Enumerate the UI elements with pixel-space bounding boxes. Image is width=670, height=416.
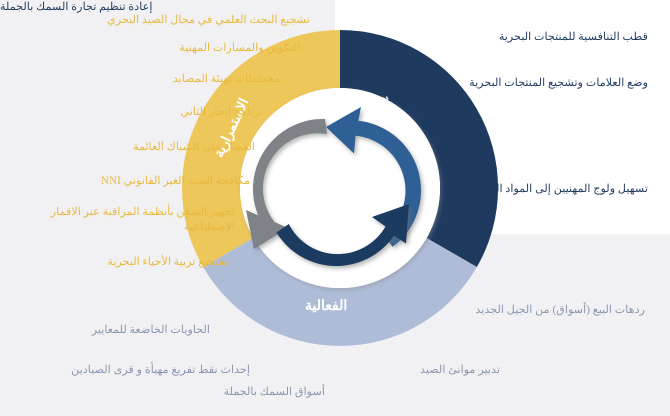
label-continuity-6: تجهيز السفن بأنظمة المراقبة عبر الاقمار … — [10, 205, 235, 235]
label-continuity-5: مكافحة الصيد الغير القانوني INN — [10, 174, 250, 189]
label-continuity-1: التكوين والمسارات المهنية — [10, 41, 300, 56]
label-performance-2: تدبير موانئ الصيد — [340, 363, 500, 378]
diagram-canvas: الاستمرارية التنافسية الفعالية تشجيع الب… — [0, 0, 670, 416]
label-performance-0: ردهات البيع (أسواق) من الجيل الجديد — [395, 303, 645, 318]
arc-label-performance: الفعالية — [305, 298, 347, 315]
label-competitiveness-2: إعادة تنظيم تجارة السمك بالجملة — [0, 0, 152, 15]
label-competitiveness-0: قطب التنافسية للمنتجات البحرية — [390, 30, 648, 45]
label-performance-3: إحداث نقط تفريغ مهيأة و قرى الصيادين — [30, 363, 250, 378]
label-performance-4: أسواق السمك بالجملة — [175, 385, 325, 400]
label-competitiveness-1: وضع العلامات وتشجيع المنتجات البحرية — [390, 76, 648, 91]
label-continuity-0: تشجيع البحث العلمي في مجال الصيد البحري — [10, 13, 310, 28]
label-continuity-7: تشجيع تربية الأحياء البحرية — [10, 255, 228, 270]
label-continuity-3: برنامج إبحار الثاني — [10, 105, 263, 120]
label-performance-1: الحاويات الخاضعة للمعايير — [55, 323, 210, 338]
label-continuity-2: مخططات تهيئة المصايد — [10, 72, 280, 87]
label-competitiveness-3: تسهيل ولوج المهنيين إلى المواد الخام — [390, 182, 648, 197]
label-continuity-4: القضاء على الشباك العائمة — [10, 140, 255, 155]
